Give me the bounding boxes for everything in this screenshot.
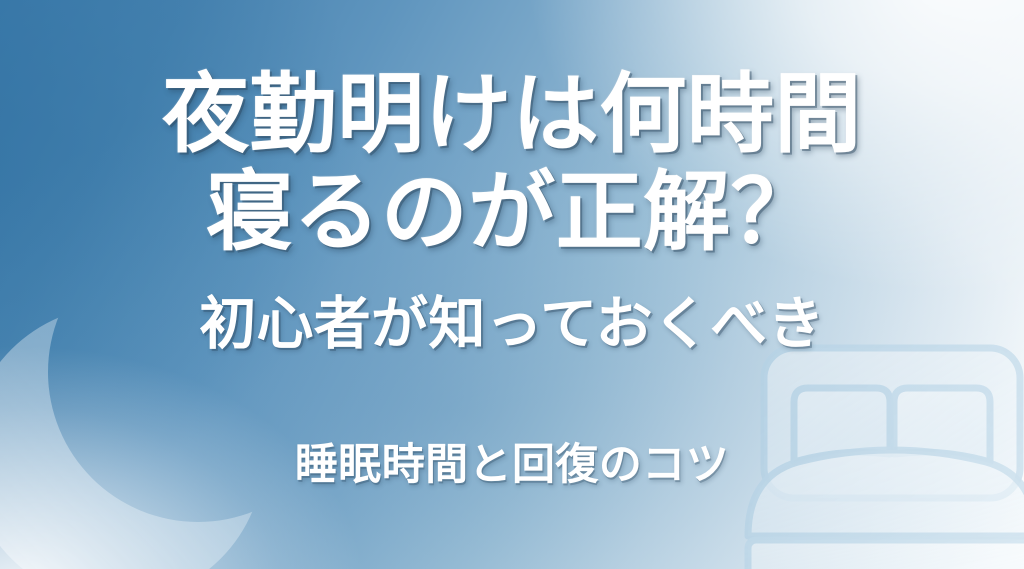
tagline: 睡眠時間と回復のコツ [0, 444, 1024, 487]
headline-line-1: 夜勤明けは何時間 [0, 71, 1024, 158]
headline-line-2: 寝るのが正解？ [0, 169, 1024, 256]
blog-header-banner: 夜勤明けは何時間 寝るのが正解？ 初心者が知っておくべき 睡眠時間と回復のコツ [0, 0, 1024, 569]
subtitle: 初心者が知っておくべき [0, 296, 1024, 353]
